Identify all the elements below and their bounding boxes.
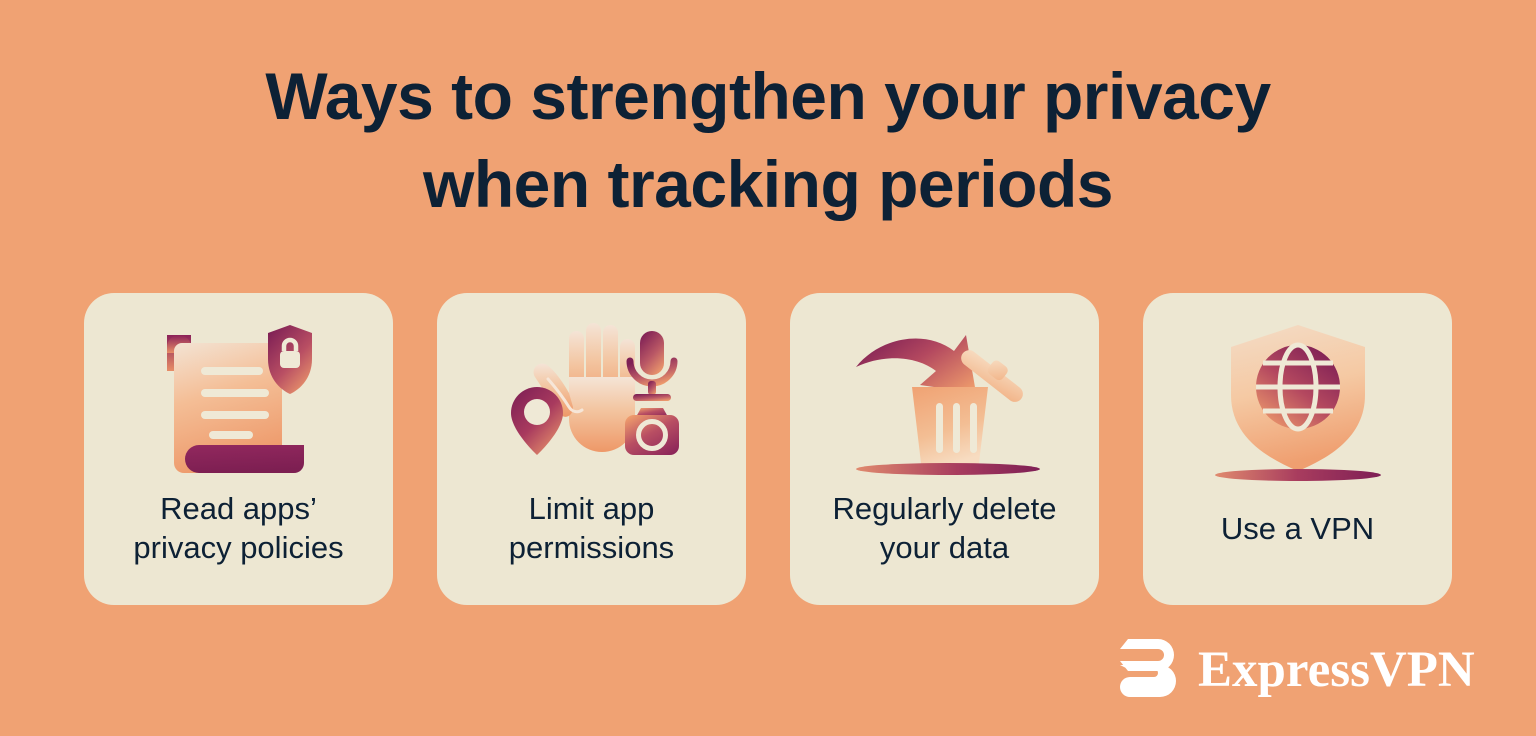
- card-use-a-vpn: Use a VPN: [1143, 293, 1452, 605]
- card-label: Regularly delete your data: [804, 489, 1085, 567]
- card-label: Limit app permissions: [451, 489, 732, 567]
- card-regularly-delete-your-data: Regularly delete your data: [790, 293, 1099, 605]
- shield-globe-icon: [1143, 315, 1452, 485]
- card-limit-app-permissions: Limit app permissions: [437, 293, 746, 605]
- hand-stop-permissions-icon: [437, 315, 746, 485]
- infographic-canvas: Ways to strengthen your privacy when tra…: [0, 0, 1536, 736]
- document-shield-lock-icon: [84, 315, 393, 485]
- page-title: Ways to strengthen your privacy when tra…: [0, 52, 1536, 228]
- expressvpn-e-mark-icon: [1110, 637, 1180, 704]
- card-label: Use a VPN: [1157, 509, 1438, 548]
- expressvpn-wordmark: ExpressVPN: [1198, 645, 1475, 696]
- card-read-apps-privacy-policies: Read apps’ privacy policies: [84, 293, 393, 605]
- expressvpn-logo: ExpressVPN: [1110, 634, 1440, 706]
- trash-can-arrow-icon: [790, 315, 1099, 485]
- card-label: Read apps’ privacy policies: [98, 489, 379, 567]
